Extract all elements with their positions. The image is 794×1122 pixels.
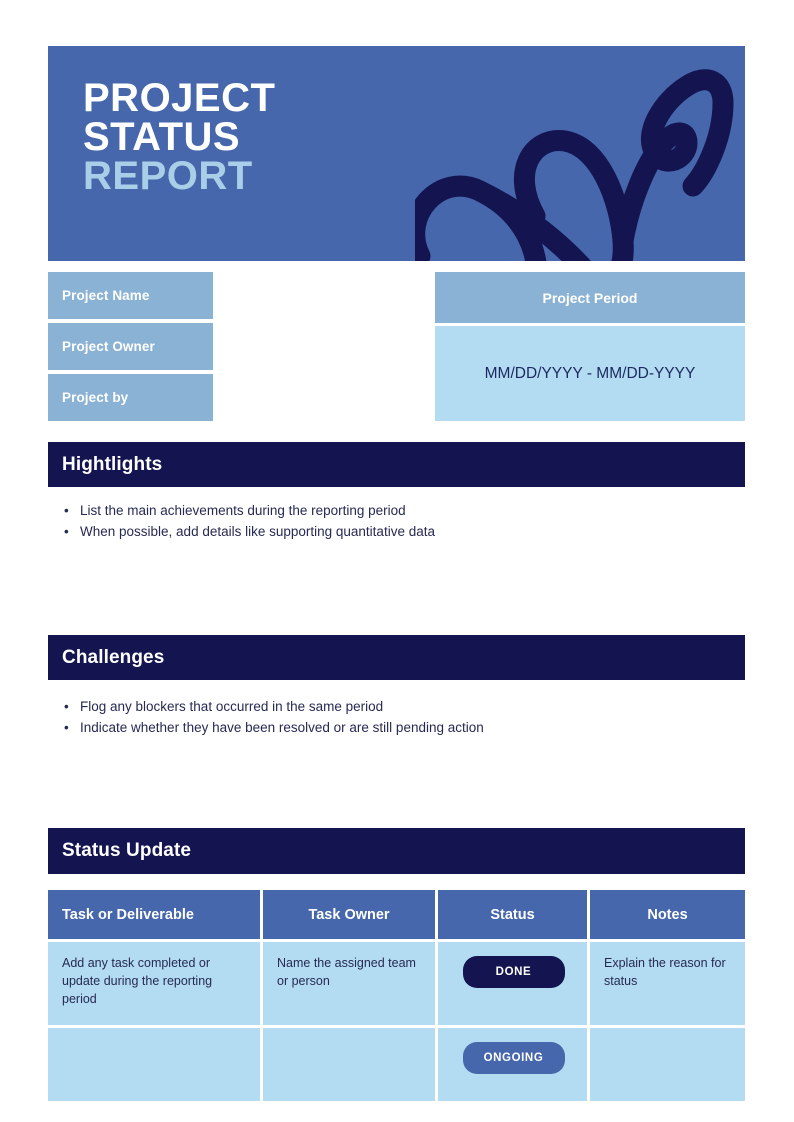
challenges-bullet-2: Indicate whether they have been resolved… [80, 720, 484, 735]
field-project-by[interactable]: Project by [48, 374, 213, 421]
section-banner-status-update: Status Update [48, 828, 745, 874]
status-report-page: PROJECT STATUS REPORT Project Name Proje… [0, 0, 794, 1122]
header-banner: PROJECT STATUS REPORT [48, 46, 745, 261]
status-badge[interactable]: ONGOING [463, 1042, 565, 1074]
table-row: ONGOING [48, 1025, 745, 1101]
cell-status[interactable]: ONGOING [438, 1025, 590, 1101]
list-item: • Indicate whether they have been resolv… [80, 717, 484, 738]
project-period-header-label: Project Period [543, 290, 638, 306]
bullet-icon: • [64, 696, 69, 717]
field-project-name-label: Project Name [62, 288, 150, 303]
challenges-bullet-1: Flog any blockers that occurred in the s… [80, 699, 383, 714]
table-header-row: Task or Deliverable Task Owner Status No… [48, 890, 745, 939]
status-badge[interactable]: DONE [463, 956, 565, 988]
cell-task[interactable] [48, 1025, 263, 1101]
bullet-icon: • [64, 500, 69, 521]
bullet-icon: • [64, 717, 69, 738]
list-item: • Flog any blockers that occurred in the… [80, 696, 484, 717]
section-title-status-update: Status Update [62, 840, 191, 862]
column-header-owner[interactable]: Task Owner [263, 890, 438, 939]
section-title-highlights: Hightlights [62, 454, 162, 476]
cell-notes[interactable]: Explain the reason for status [590, 939, 745, 1025]
section-title-challenges: Challenges [62, 647, 164, 669]
section-banner-highlights: Hightlights [48, 442, 745, 487]
highlights-bullet-1: List the main achievements during the re… [80, 503, 406, 518]
title-line-1: PROJECT [83, 79, 275, 118]
field-project-owner-label: Project Owner [62, 339, 155, 354]
challenges-list: • Flog any blockers that occurred in the… [62, 696, 484, 738]
field-project-owner[interactable]: Project Owner [48, 323, 213, 370]
project-period-header: Project Period [435, 272, 745, 323]
project-info-labels: Project Name Project Owner Project by [48, 272, 213, 425]
column-header-status[interactable]: Status [438, 890, 590, 939]
page-title: PROJECT STATUS REPORT [83, 79, 275, 197]
section-banner-challenges: Challenges [48, 635, 745, 680]
column-header-notes[interactable]: Notes [590, 890, 745, 939]
project-period-block: Project Period MM/DD/YYYY - MM/DD-YYYY [435, 272, 745, 421]
field-project-name[interactable]: Project Name [48, 272, 213, 319]
cell-notes[interactable] [590, 1025, 745, 1101]
cell-owner[interactable] [263, 1025, 438, 1101]
status-update-table: Task or Deliverable Task Owner Status No… [48, 890, 745, 1101]
title-line-3: REPORT [83, 157, 275, 196]
highlights-list: • List the main achievements during the … [62, 500, 435, 542]
project-period-value: MM/DD/YYYY - MM/DD-YYYY [485, 365, 696, 383]
table-row: Add any task completed or update during … [48, 939, 745, 1025]
field-project-by-label: Project by [62, 390, 128, 405]
cell-task[interactable]: Add any task completed or update during … [48, 939, 263, 1025]
cell-owner[interactable]: Name the assigned team or person [263, 939, 438, 1025]
cell-status[interactable]: DONE [438, 939, 590, 1025]
list-item: • List the main achievements during the … [80, 500, 435, 521]
highlights-bullet-2: When possible, add details like supporti… [80, 524, 435, 539]
bullet-icon: • [64, 521, 69, 542]
title-line-2: STATUS [83, 118, 275, 157]
project-period-value-box[interactable]: MM/DD/YYYY - MM/DD-YYYY [435, 326, 745, 421]
squiggle-decoration [415, 46, 745, 261]
list-item: • When possible, add details like suppor… [80, 521, 435, 542]
column-header-task[interactable]: Task or Deliverable [48, 890, 263, 939]
